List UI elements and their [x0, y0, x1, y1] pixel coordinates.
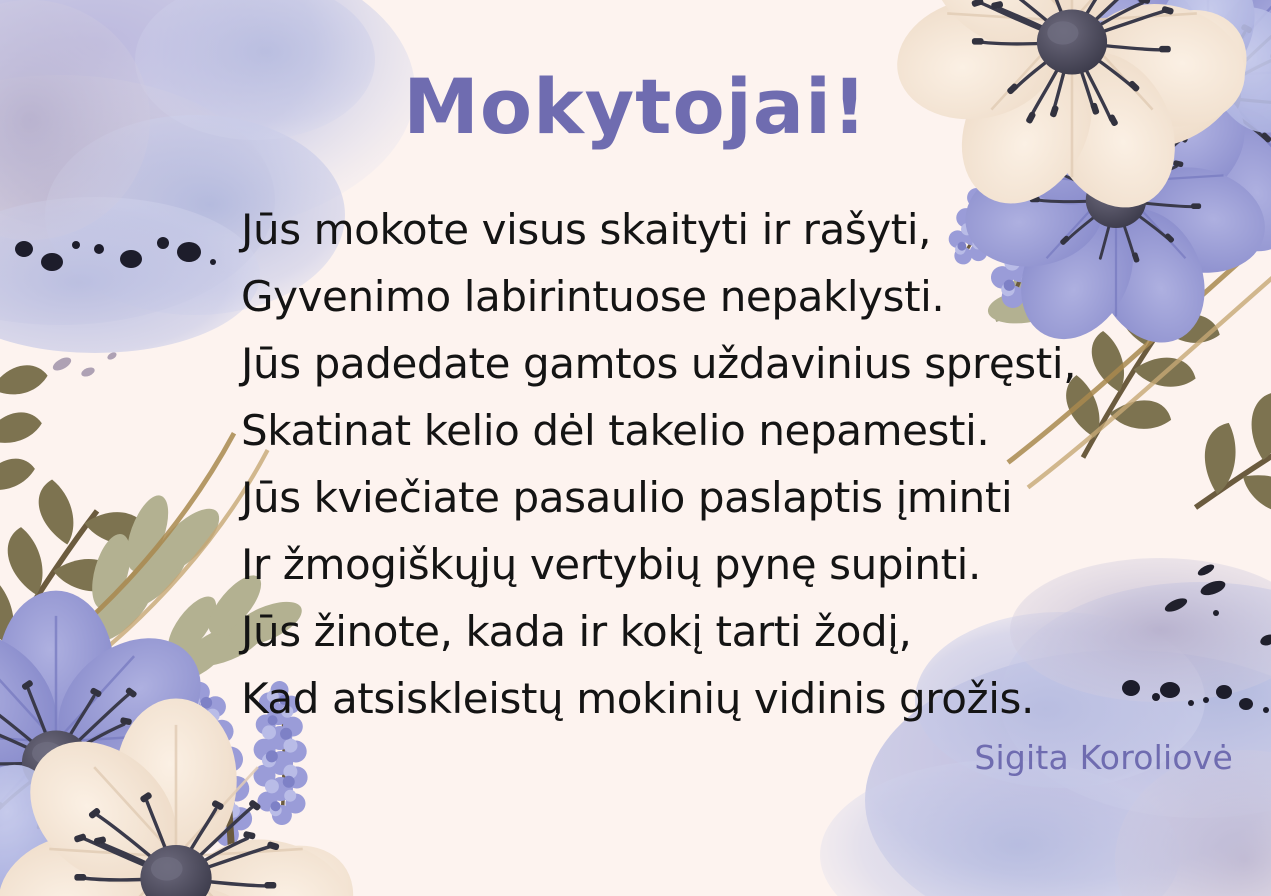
poster-canvas: Mokytojai! Jūs mokote visus skaityti ir …: [0, 0, 1271, 896]
poem-line: Gyvenimo labirintuose nepaklysti.: [241, 263, 1141, 330]
page-title: Mokytojai!: [0, 62, 1271, 151]
poem-line: Ir žmogiškųjų vertybių pynę supinti.: [241, 531, 1141, 598]
poem-line: Kad atsiskleistų mokinių vidinis grožis.: [241, 665, 1141, 732]
poem-body: Jūs mokote visus skaityti ir rašyti, Gyv…: [241, 196, 1141, 732]
poem-line: Jūs kviečiate pasaulio paslaptis įminti: [241, 464, 1141, 531]
author-credit: Sigita Koroliovė: [0, 738, 1233, 777]
poem-line: Jūs žinote, kada ir kokį tarti žodį,: [241, 598, 1141, 665]
poem-line: Jūs padedate gamtos uždavinius spręsti,: [241, 330, 1141, 397]
poem-line: Jūs mokote visus skaityti ir rašyti,: [241, 196, 1141, 263]
poem-line: Skatinat kelio dėl takelio nepamesti.: [241, 397, 1141, 464]
